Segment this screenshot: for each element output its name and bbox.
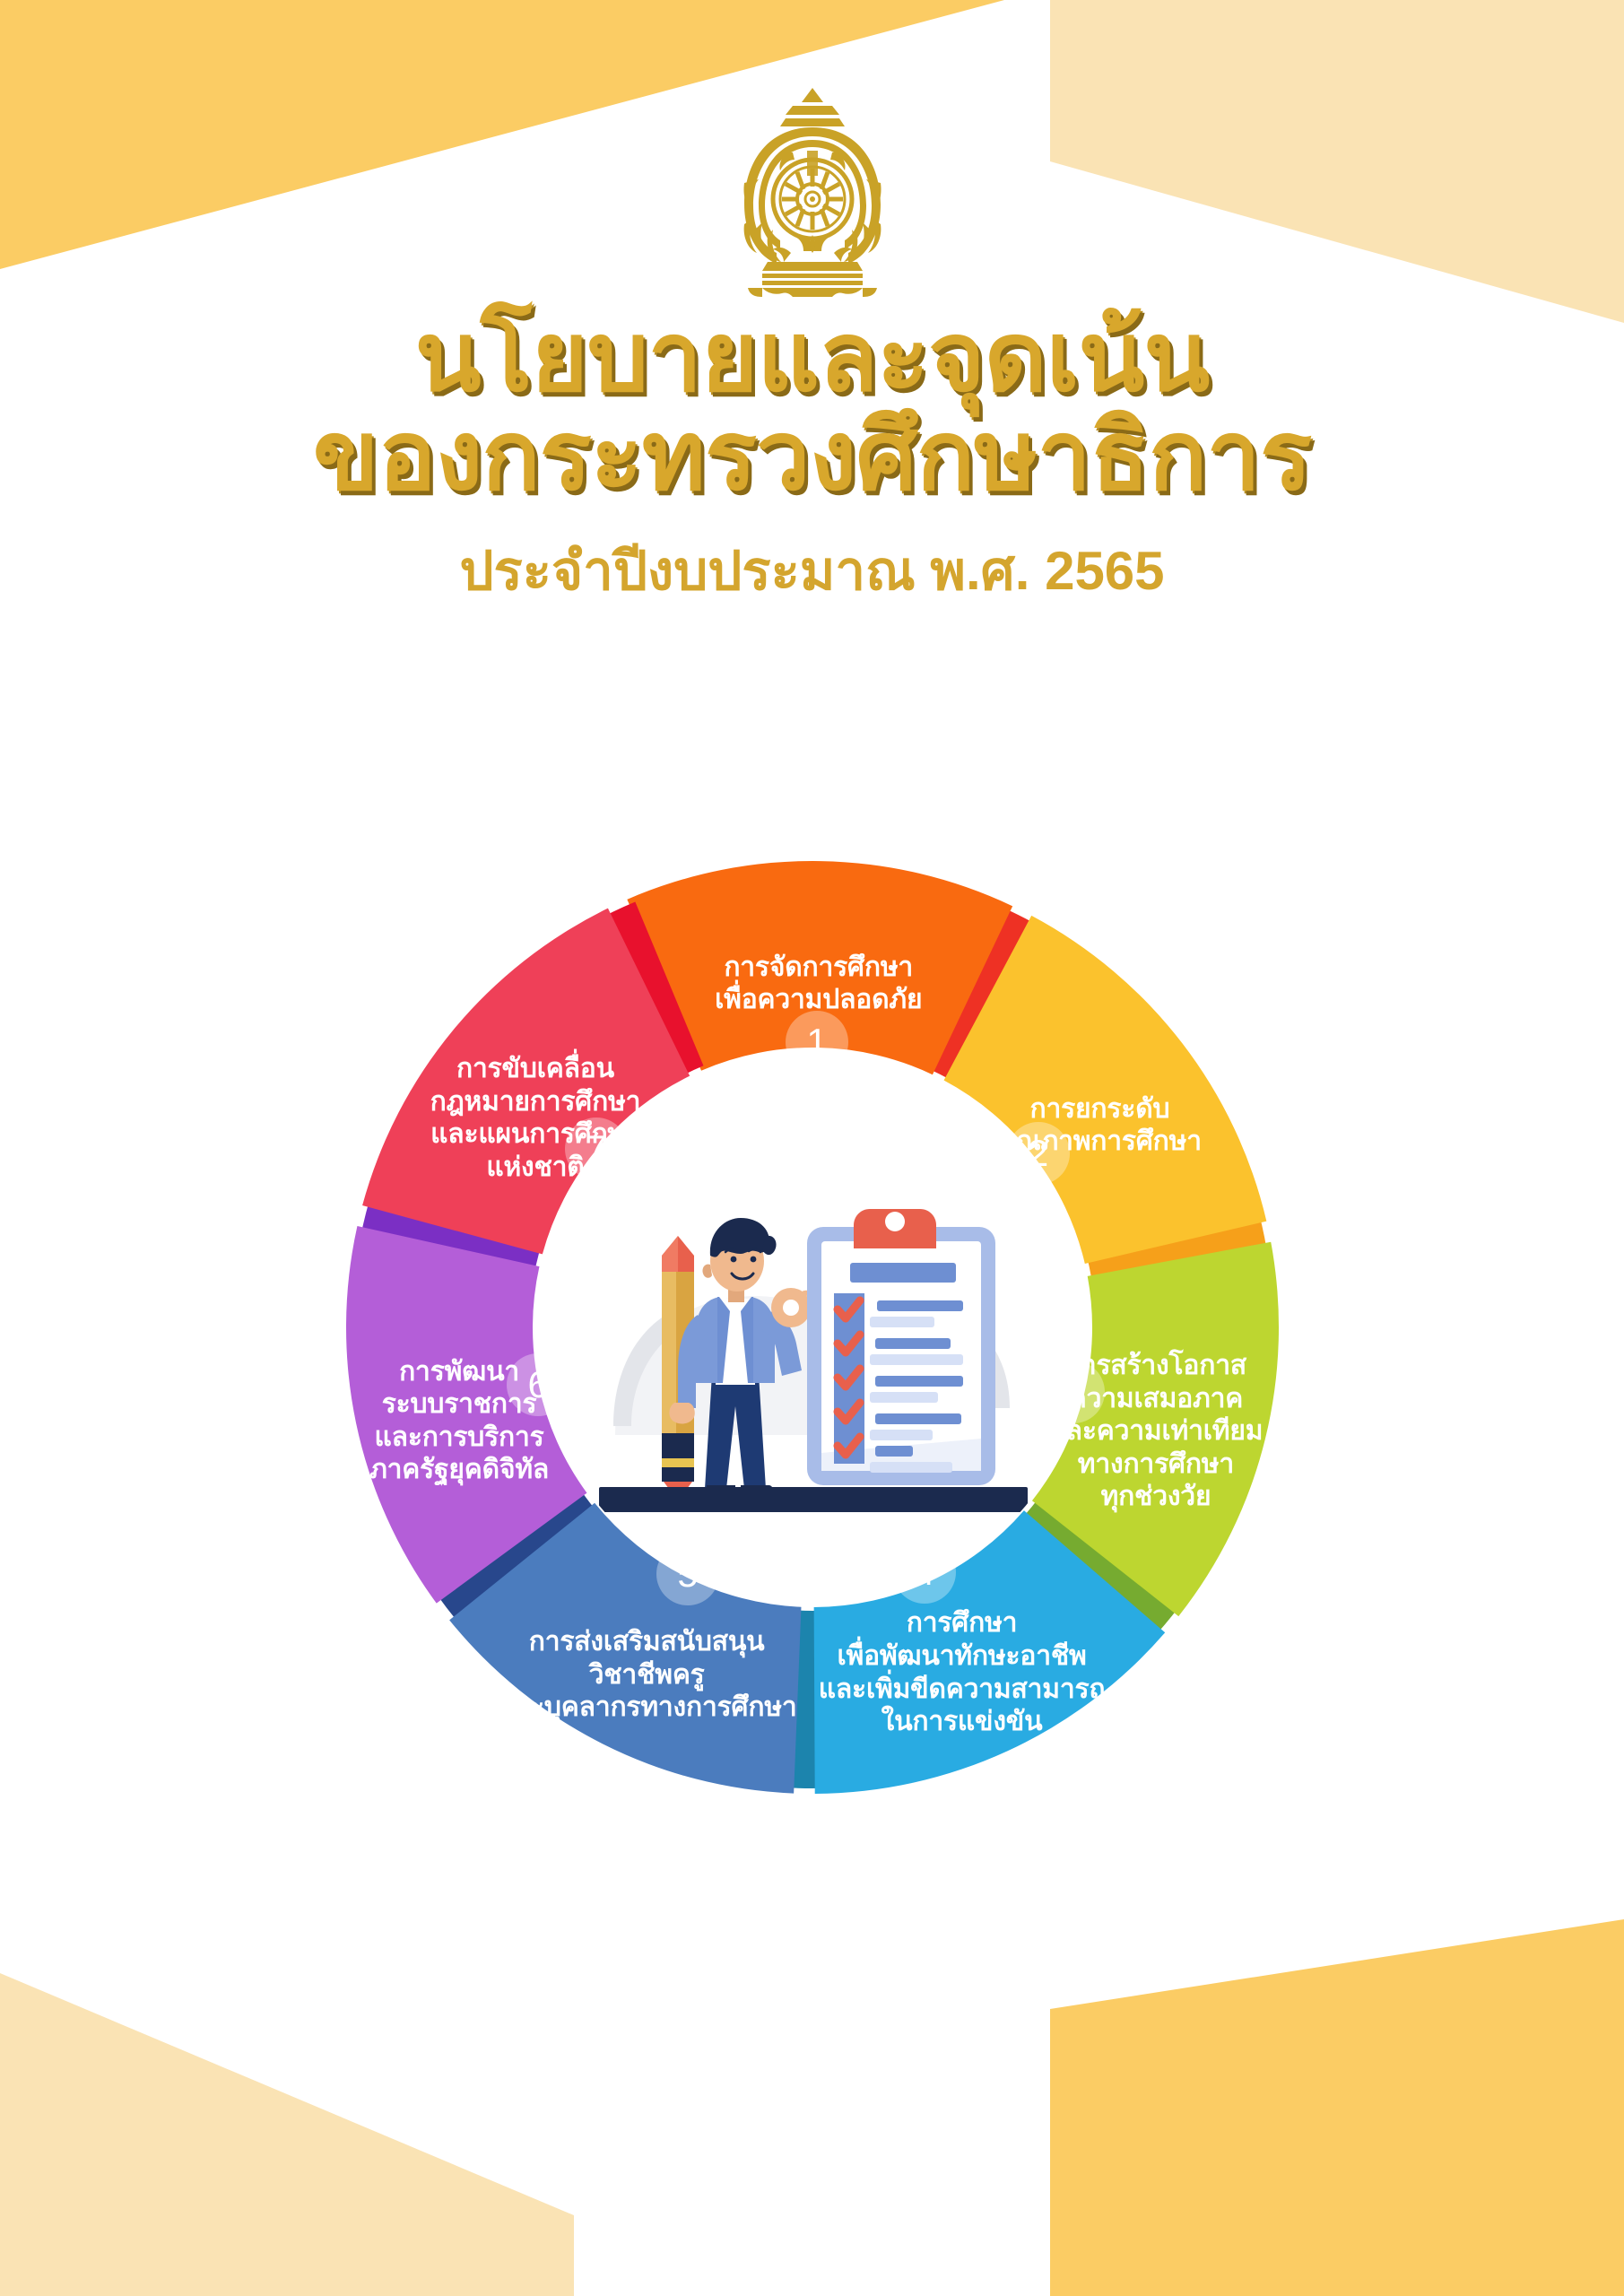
man-with-pencil-and-checklist-illustration-icon	[561, 1139, 1064, 1516]
page-title: นโยบายและจุดเน้น ของกระทรวงศึกษาธิการ	[0, 308, 1624, 505]
title-line-1: นโยบายและจุดเน้น	[0, 308, 1624, 406]
background-wedge-bottom-left	[0, 1919, 574, 2296]
page-subtitle: ประจำปีงบประมาณ พ.ศ. 2565	[0, 528, 1624, 613]
poster-header: นโยบายและจุดเน้น ของกระทรวงศึกษาธิการ ปร…	[0, 0, 1624, 613]
poster-canvas: นโยบายและจุดเน้น ของกระทรวงศึกษาธิการ ปร…	[0, 0, 1624, 2296]
title-line-2: ของกระทรวงศึกษาธิการ	[0, 406, 1624, 505]
ground-bar	[599, 1487, 1028, 1512]
center-illustration	[534, 1049, 1090, 1605]
thai-ministry-of-education-emblem-icon	[723, 86, 902, 297]
background-wedge-bottom-right	[1050, 1919, 1624, 2296]
clipboard-icon	[807, 1209, 995, 1485]
